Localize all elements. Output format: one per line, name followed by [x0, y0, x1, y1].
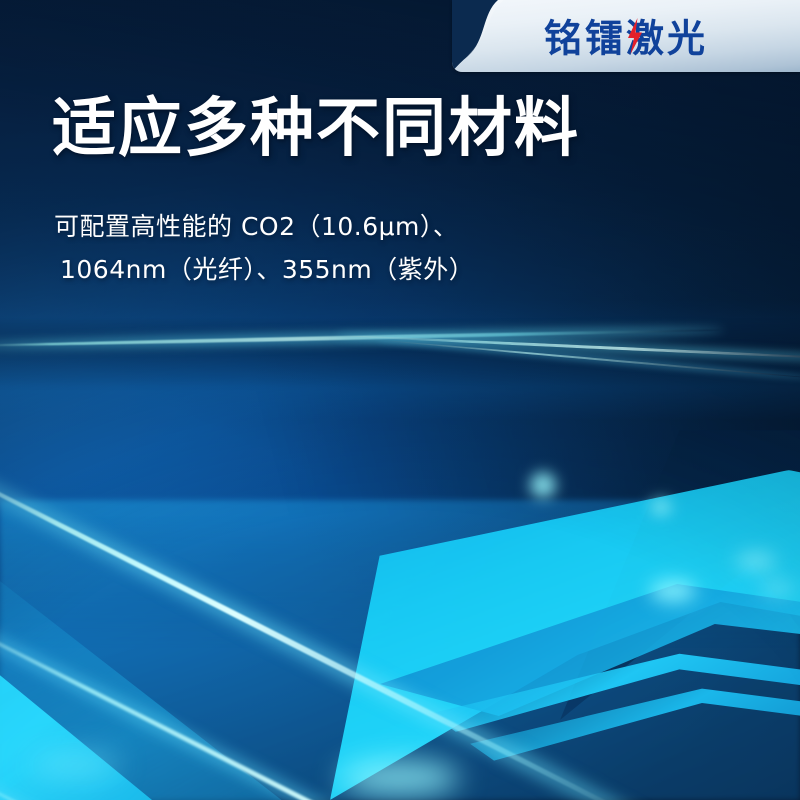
brand-logo-badge[interactable]: 铭镭激光 [452, 0, 800, 72]
light-glow-3 [760, 580, 794, 596]
light-glow-7 [650, 498, 672, 516]
light-glow-1 [650, 580, 696, 602]
brand-name-text: 铭镭激光 [544, 7, 708, 62]
page-subtitle: 可配置高性能的 CO2（10.6μm）、 1064nm（光纤）、355nm（紫外… [54, 205, 474, 291]
banner-canvas: 铭镭激光 适应多种不同材料 可配置高性能的 CO2（10.6μm）、 1064n… [0, 0, 800, 800]
badge-curve-shape [452, 0, 532, 72]
subtitle-line-2: 1064nm（光纤）、355nm（紫外） [54, 248, 474, 291]
subtitle-line-1: 可配置高性能的 CO2（10.6μm）、 [54, 205, 474, 248]
light-glow-5 [30, 752, 120, 778]
page-title: 适应多种不同材料 [52, 96, 580, 164]
light-glow-2 [736, 552, 776, 570]
light-glow-6 [530, 472, 556, 498]
light-glow-4 [340, 760, 460, 796]
